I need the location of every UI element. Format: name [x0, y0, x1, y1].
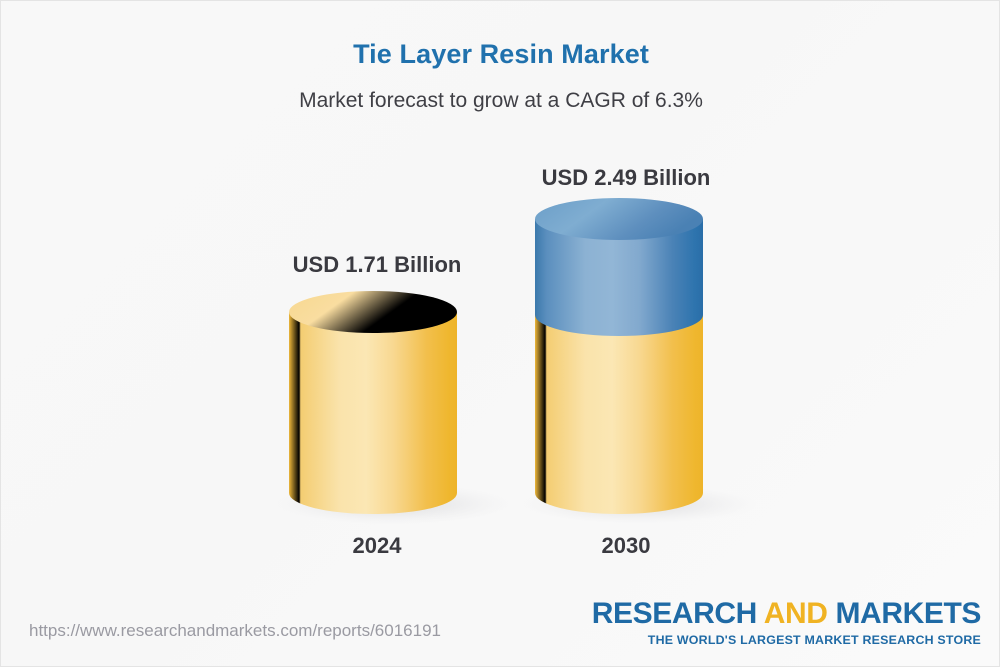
brand-wordmark: RESEARCH AND MARKETS: [592, 599, 981, 629]
brand-tagline: THE WORLD'S LARGEST MARKET RESEARCH STOR…: [592, 634, 981, 646]
source-url[interactable]: https://www.researchandmarkets.com/repor…: [29, 621, 441, 641]
cylinder-chart-graphic: [1, 1, 1000, 601]
value-label-2024: USD 1.71 Billion: [222, 252, 532, 278]
brand-word-and: AND: [764, 597, 828, 630]
category-label-2030: 2030: [471, 533, 781, 559]
bar-2024-gold-body: [289, 312, 457, 514]
value-label-2030: USD 2.49 Billion: [471, 165, 781, 191]
bar-2024[interactable]: [289, 291, 457, 514]
bar-2030[interactable]: [535, 198, 703, 514]
chart-card: Tie Layer Resin Market Market forecast t…: [0, 0, 1000, 667]
brand-word-research: RESEARCH: [592, 597, 757, 630]
bar-2030-gold-segment: [535, 315, 703, 514]
chart-plot-area: USD 1.71 Billion USD 2.49 Billion 2024 2…: [1, 1, 1000, 601]
brand-word-markets: MARKETS: [835, 597, 981, 630]
bar-2024-top-cap: [289, 291, 457, 333]
brand-logo[interactable]: RESEARCH AND MARKETS THE WORLD'S LARGEST…: [592, 599, 981, 646]
bar-2030-top-cap: [535, 198, 703, 240]
